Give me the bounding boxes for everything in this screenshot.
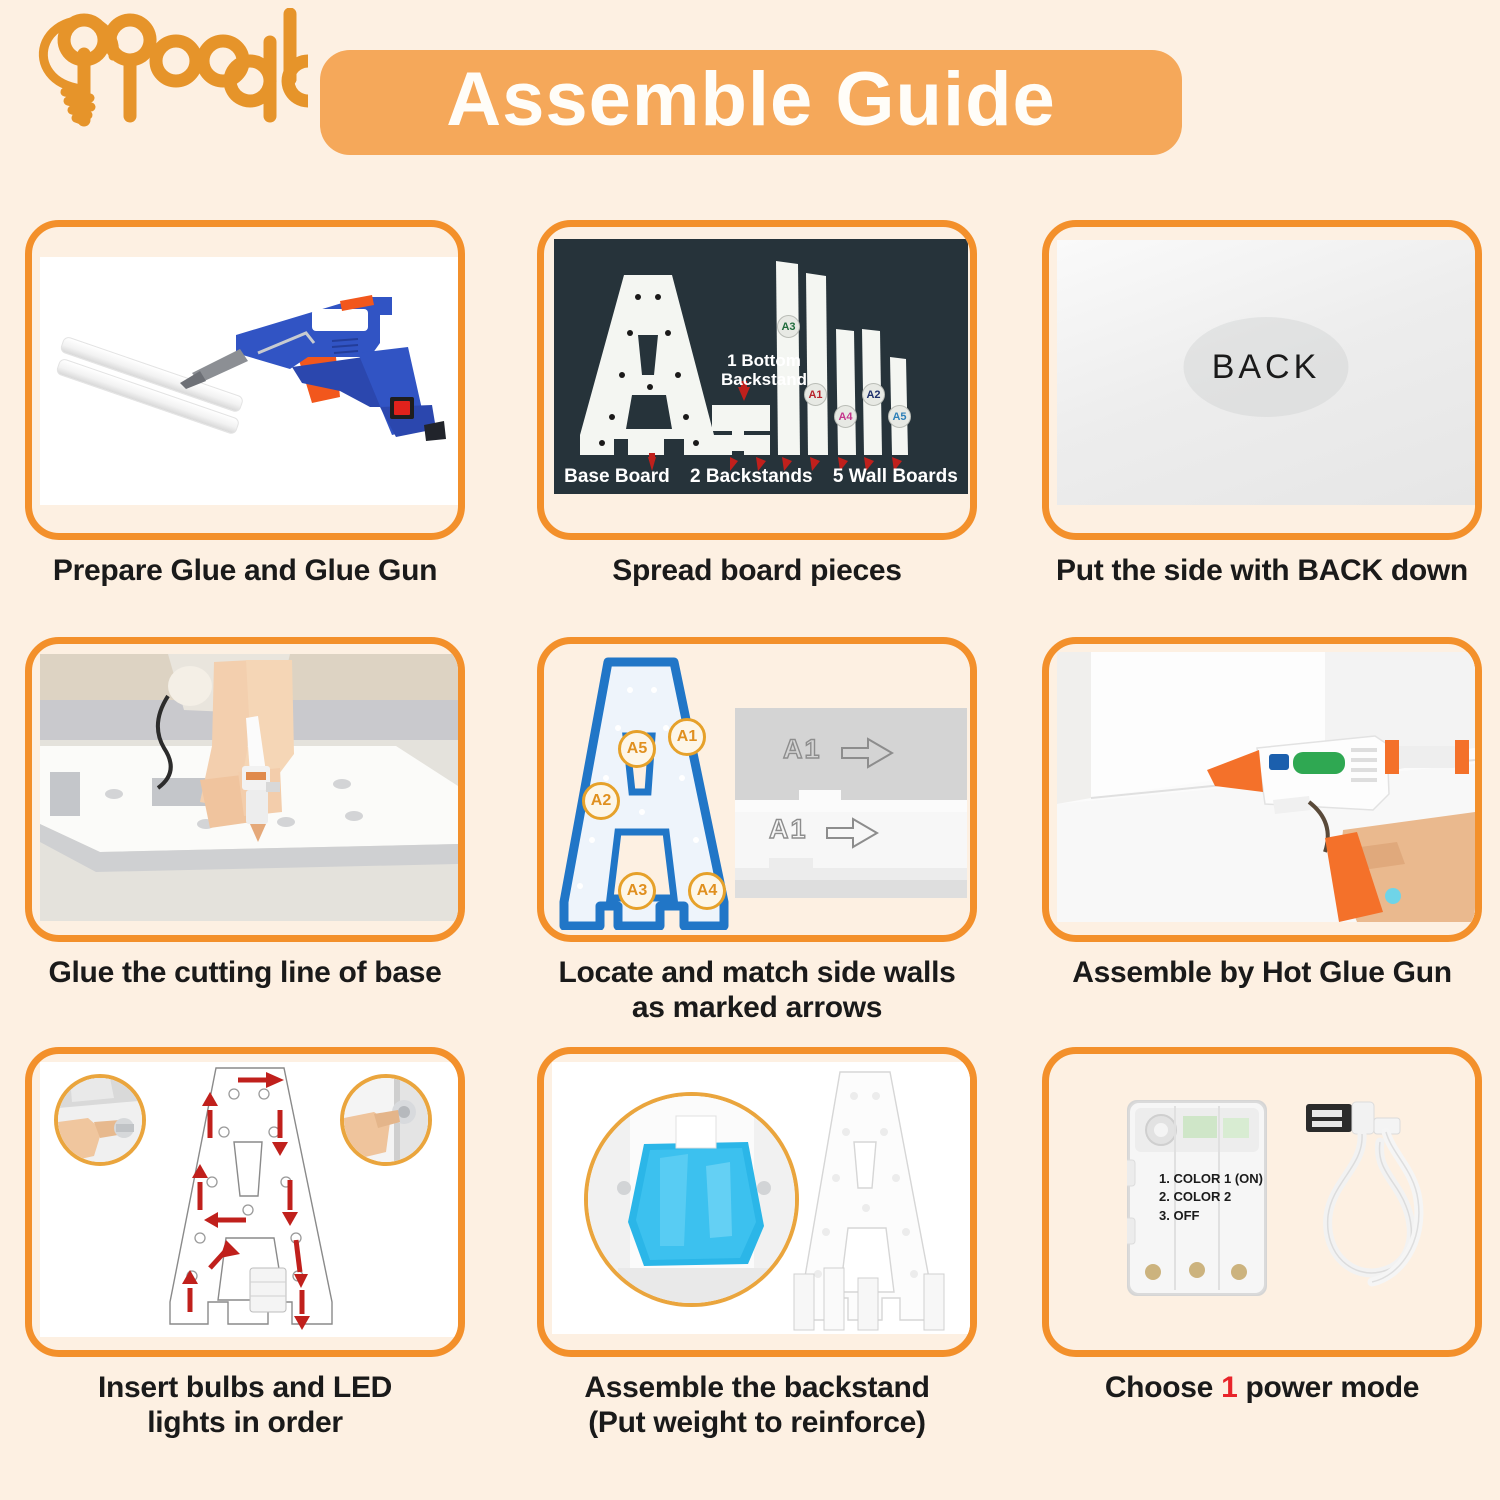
usb-cable-icon (1302, 1096, 1452, 1326)
a1-mark-bottom: A1 (769, 814, 808, 845)
step-5-caption-line2: as marked arrows (537, 990, 977, 1025)
step-9-caption-prefix: Choose (1105, 1371, 1221, 1404)
step-card-8[interactable]: Assemble the backstand (Put weight to re… (537, 1047, 977, 1441)
steps-grid: Prepare Glue and Glue Gun (0, 182, 1500, 1500)
back-text: BACK (1212, 348, 1321, 387)
right-arrow-icon-bottom (825, 816, 883, 850)
piece-label-a4: A4 (834, 405, 857, 428)
wall-label-a1: A1 (668, 718, 706, 756)
water-weight-photo (584, 1092, 799, 1307)
step-7-caption-line1: Insert bulbs and LED (25, 1370, 465, 1405)
a1-match-photo: A1 A1 (735, 708, 967, 898)
step-1-caption: Prepare Glue and Glue Gun (25, 553, 465, 588)
gluing-scene-illustration (40, 654, 458, 921)
backstand-photo (552, 1062, 970, 1334)
side-wall-map: A5 A1 A2 A3 A4 A1 (550, 650, 972, 930)
board-pieces-diagram: 1 Bottom Backstand A3 A1 A2 A4 A5 Base B… (554, 239, 968, 494)
step-9-frame: 1. COLOR 1 (ON) 2. COLOR 2 3. OFF (1042, 1047, 1482, 1357)
glue-gun-photo (40, 257, 458, 505)
step-4-caption: Glue the cutting line of base (25, 955, 465, 990)
wall-label-a2: A2 (582, 782, 620, 820)
piece-label-a2: A2 (862, 383, 885, 406)
step-8-caption-line1: Assemble the backstand (537, 1370, 977, 1405)
step-8-frame (537, 1047, 977, 1357)
brand-logo: pooqla (18, 8, 308, 130)
acrylic-panel-photo: BACK (1057, 240, 1475, 505)
piece-label-a5: A5 (888, 405, 911, 428)
step-card-5[interactable]: A5 A1 A2 A3 A4 A1 (537, 637, 977, 1026)
page-header: pooqla Assemble Guide (0, 0, 1500, 182)
step-7-caption: Insert bulbs and LED lights in order (25, 1370, 465, 1441)
back-label-oval: BACK (1184, 317, 1349, 417)
a1-mark-top: A1 (783, 734, 822, 765)
glue-gun-icon (40, 257, 458, 505)
step-9-caption-suffix: power mode (1237, 1371, 1419, 1404)
wall-label-a3: A3 (618, 872, 656, 910)
power-mode-photo: 1. COLOR 1 (ON) 2. COLOR 2 3. OFF (1057, 1062, 1475, 1337)
battery-box-icon: 1. COLOR 1 (ON) 2. COLOR 2 3. OFF (1127, 1100, 1267, 1296)
step-card-7[interactable]: Insert bulbs and LED lights in order (25, 1047, 465, 1441)
step-1-frame (25, 220, 465, 540)
step-4-frame (25, 637, 465, 942)
bulb-insert-photo-left (54, 1074, 146, 1166)
battery-mode-3: 3. OFF (1159, 1207, 1263, 1225)
battery-mode-list: 1. COLOR 1 (ON) 2. COLOR 2 3. OFF (1159, 1170, 1263, 1225)
piece-label-a1: A1 (804, 383, 827, 406)
page-title-banner: Assemble Guide (320, 50, 1182, 155)
lightbulb-icon (18, 8, 308, 130)
step-card-9[interactable]: 1. COLOR 1 (ON) 2. COLOR 2 3. OFF (1042, 1047, 1482, 1405)
step-card-1[interactable]: Prepare Glue and Glue Gun (25, 220, 465, 588)
page-title: Assemble Guide (446, 62, 1056, 144)
battery-mode-1: 1. COLOR 1 (ON) (1159, 1170, 1263, 1188)
step-2-frame: 1 Bottom Backstand A3 A1 A2 A4 A5 Base B… (537, 220, 977, 540)
step-9-caption: Choose 1 power mode (1042, 1370, 1482, 1405)
bottom-backstand-annotation: 1 Bottom Backstand (704, 351, 824, 389)
step-2-caption: Spread board pieces (537, 553, 977, 588)
step-8-caption-line2: (Put weight to reinforce) (537, 1405, 977, 1440)
wall-label-a4: A4 (688, 872, 726, 910)
step-7-frame (25, 1047, 465, 1357)
step-7-caption-line2: lights in order (25, 1405, 465, 1440)
step-3-caption: Put the side with BACK down (1042, 553, 1482, 588)
step-card-2[interactable]: 1 Bottom Backstand A3 A1 A2 A4 A5 Base B… (537, 220, 977, 588)
bulb-insert-photo-right (340, 1074, 432, 1166)
step-5-frame: A5 A1 A2 A3 A4 A1 (537, 637, 977, 942)
step-6-frame (1042, 637, 1482, 942)
step-card-3[interactable]: BACK Put the side with BACK down (1042, 220, 1482, 588)
step-3-frame: BACK (1042, 220, 1482, 540)
label-base-board: Base Board (564, 466, 670, 488)
battery-mode-2: 2. COLOR 2 (1159, 1188, 1263, 1206)
step-5-caption-line1: Locate and match side walls (537, 955, 977, 990)
label-backstands: 2 Backstands (690, 466, 813, 488)
step-card-6[interactable]: Assemble by Hot Glue Gun (1042, 637, 1482, 990)
step-6-caption: Assemble by Hot Glue Gun (1042, 955, 1482, 990)
label-wall-boards: 5 Wall Boards (833, 466, 958, 488)
right-arrow-icon-top (840, 736, 898, 770)
hot-glue-gun-photo (1057, 652, 1475, 922)
step-5-caption: Locate and match side walls as marked ar… (537, 955, 977, 1026)
piece-label-a3: A3 (777, 315, 800, 338)
gluing-base-photo (40, 654, 458, 921)
bulb-order-diagram (40, 1062, 458, 1337)
board-group-labels: Base Board 2 Backstands 5 Wall Boards (554, 466, 968, 488)
water-bag-icon (588, 1096, 799, 1307)
wall-label-a5: A5 (618, 730, 656, 768)
step-8-caption: Assemble the backstand (Put weight to re… (537, 1370, 977, 1441)
step-9-power-mode-count: 1 (1221, 1371, 1237, 1404)
hot-glue-gun-illustration (1057, 652, 1475, 922)
step-card-4[interactable]: Glue the cutting line of base (25, 637, 465, 990)
